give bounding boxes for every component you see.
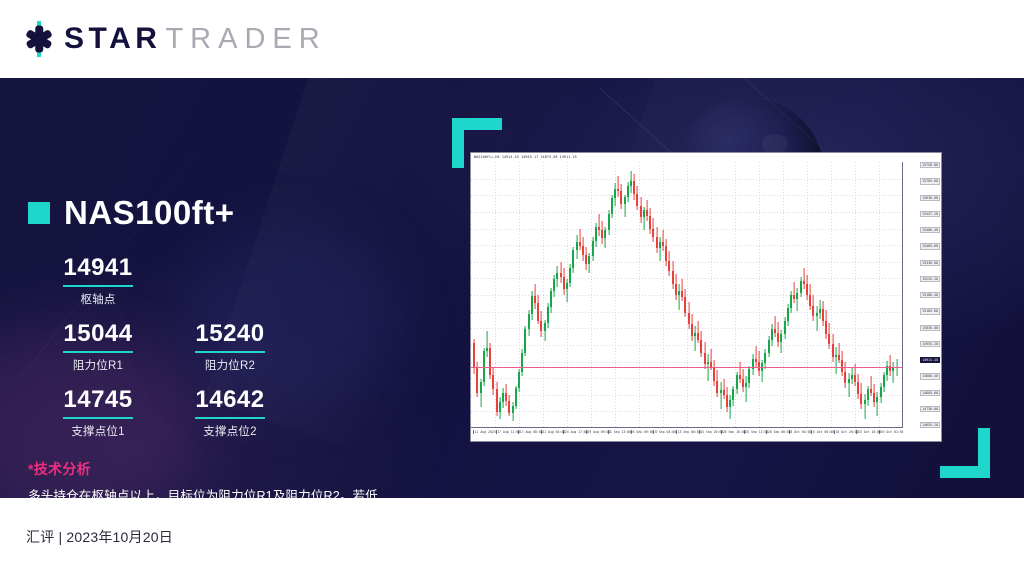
time-tick-label: 21 Aug 04:00 <box>541 430 566 434</box>
candlestick <box>768 162 770 428</box>
price-tick-label: 14805.60 <box>920 390 940 396</box>
candlestick <box>540 162 542 428</box>
candlestick <box>588 162 590 428</box>
chart-plot-area[interactable] <box>471 162 903 428</box>
chart-time-axis[interactable]: 11 Aug 202317 Aug 12:0017 Aug 08:0021 Au… <box>471 427 903 441</box>
time-tick-label: 13 Oct 16:00 <box>856 430 881 434</box>
candlestick <box>784 162 786 428</box>
candlestick <box>876 162 878 428</box>
square-bullet-icon <box>28 202 50 224</box>
level-label: 阻力位R2 <box>178 357 282 373</box>
candlestick <box>809 162 811 428</box>
candlestick <box>723 162 725 428</box>
candlestick <box>713 162 715 428</box>
technical-analysis: *技术分析 多头持仓在枢轴点以上，目标位为阻力位R1及阻力位R2。若低于枢轴点，… <box>28 459 428 498</box>
analysis-body: 多头持仓在枢轴点以上，目标位为阻力位R1及阻力位R2。若低于枢轴点，则可能下跌至… <box>28 486 388 498</box>
candlestick <box>678 162 680 428</box>
candlestick <box>828 162 830 428</box>
candlestick <box>496 162 498 428</box>
candlestick <box>880 162 882 428</box>
candlestick <box>873 162 875 428</box>
chart-header-text: NAS100ft+,H4 14914.45 14955.17 14875.50 … <box>474 155 577 159</box>
candlestick <box>835 162 837 428</box>
levels-list: 14941 枢轴点 15044 阻力位R1 15240 阻力位R2 <box>28 255 428 439</box>
candlestick <box>502 162 504 428</box>
level-label: 枢轴点 <box>46 291 150 307</box>
candlestick <box>585 162 587 428</box>
candlestick <box>572 162 574 428</box>
level-pivot: 14941 枢轴点 <box>46 255 150 307</box>
level-value: 14745 <box>63 387 132 419</box>
candlestick <box>524 162 526 428</box>
price-chart[interactable]: NAS100ft+,H4 14914.45 14955.17 14875.50 … <box>470 152 942 442</box>
candlestick <box>822 162 824 428</box>
level-value: 15044 <box>63 321 132 353</box>
candlestick <box>630 162 632 428</box>
candlestick <box>550 162 552 428</box>
candlestick <box>883 162 885 428</box>
candlestick <box>649 162 651 428</box>
time-tick-label: 10 Oct 20:00 <box>834 430 859 434</box>
price-tick-label: 15405.60 <box>920 243 940 249</box>
time-tick-label: 17 Aug 12:00 <box>496 430 521 434</box>
current-price-line <box>471 367 903 368</box>
level-support-1: 14745 支撑点位1 <box>46 387 150 439</box>
candlestick <box>640 162 642 428</box>
candlestick <box>726 162 728 428</box>
candlestick <box>544 162 546 428</box>
candlestick <box>505 162 507 428</box>
brand-name-light: TRADER <box>165 23 326 56</box>
analysis-heading: *技术分析 <box>28 459 428 479</box>
candlestick <box>646 162 648 428</box>
candlestick <box>857 162 859 428</box>
price-tick-label: 15630.00 <box>920 195 940 201</box>
candlestick <box>476 162 478 428</box>
candlestick <box>739 162 741 428</box>
level-support-2: 14642 支撑点位2 <box>178 387 282 439</box>
candlestick <box>480 162 482 428</box>
level-value: 15240 <box>195 321 264 353</box>
candlestick <box>688 162 690 428</box>
candlestick <box>601 162 603 428</box>
candlestick <box>636 162 638 428</box>
info-panel: NAS100ft+ 14941 枢轴点 15044 阻力位R1 15240 <box>28 196 428 498</box>
candlestick <box>729 162 731 428</box>
level-resistance-1: 15044 阻力位R1 <box>46 321 150 373</box>
candlestick <box>848 162 850 428</box>
time-tick-label: 15 Sep 20:00 <box>699 430 724 434</box>
candlestick <box>534 162 536 428</box>
candlestick <box>617 162 619 428</box>
level-value: 14642 <box>195 387 264 419</box>
candlestick <box>812 162 814 428</box>
candlestick <box>656 162 658 428</box>
candlestick <box>547 162 549 428</box>
time-tick-label: 6 Sep 09:00 <box>631 430 654 434</box>
candlestick <box>659 162 661 428</box>
candlestick <box>838 162 840 428</box>
candlestick <box>531 162 533 428</box>
level-label: 支撑点位2 <box>178 423 282 439</box>
price-tick-label: 14955.20 <box>920 341 940 347</box>
price-tick-label: 15030.00 <box>920 325 940 331</box>
candlestick <box>560 162 562 428</box>
time-tick-label: 13 Sep 00:00 <box>676 430 701 434</box>
candlestick <box>528 162 530 428</box>
page-footer: 汇评 | 2023年10月20日 <box>0 498 1024 576</box>
footer-caption: 汇评 | 2023年10月20日 <box>26 527 173 547</box>
candlestick <box>896 162 898 428</box>
pivot-row: 14941 枢轴点 <box>46 255 428 307</box>
candlestick <box>521 162 523 428</box>
candlestick <box>592 162 594 428</box>
candlestick <box>608 162 610 428</box>
candlestick <box>569 162 571 428</box>
candlestick <box>886 162 888 428</box>
candlestick <box>777 162 779 428</box>
candlestick <box>672 162 674 428</box>
candlestick <box>841 162 843 428</box>
candlestick <box>489 162 491 428</box>
candlestick <box>486 162 488 428</box>
candlestick <box>492 162 494 428</box>
candlestick <box>892 162 894 428</box>
level-resistance-2: 15240 阻力位R2 <box>178 321 282 373</box>
candlestick <box>780 162 782 428</box>
candlestick <box>668 162 670 428</box>
current-price-label: 14911.15 <box>920 357 940 363</box>
level-value: 14941 <box>63 255 132 287</box>
price-tick-label: 15330.00 <box>920 260 940 266</box>
time-tick-label: 24 Aug 17:00 <box>563 430 588 434</box>
candlestick <box>633 162 635 428</box>
candlestick <box>755 162 757 428</box>
candlestick <box>704 162 706 428</box>
candlestick <box>675 162 677 428</box>
candlestick <box>662 162 664 428</box>
candlestick <box>707 162 709 428</box>
level-label: 阻力位R1 <box>46 357 150 373</box>
brand-name-bold: STAR <box>64 22 161 56</box>
price-tick-label: 15180.40 <box>920 292 940 298</box>
candlestick <box>816 162 818 428</box>
slide-root: STAR TRADER NAS100ft+ 14941 <box>0 0 1024 576</box>
time-tick-label: 29 Aug 09:00 <box>586 430 611 434</box>
candlestick <box>736 162 738 428</box>
price-tick-label: 15255.20 <box>920 276 940 282</box>
candlestick <box>800 162 802 428</box>
candlestick <box>553 162 555 428</box>
price-tick-label: 15758.80 <box>920 162 940 168</box>
candlestick <box>860 162 862 428</box>
candlestick <box>582 162 584 428</box>
candlestick <box>652 162 654 428</box>
candlestick <box>716 162 718 428</box>
candlestick <box>518 162 520 428</box>
time-tick-label: 19 Oct 01:00 <box>879 430 903 434</box>
candlestick <box>576 162 578 428</box>
candlestick <box>508 162 510 428</box>
time-tick-label: 1 Sep 13:00 <box>608 430 631 434</box>
candlestick <box>643 162 645 428</box>
candlestick <box>787 162 789 428</box>
candlestick <box>512 162 514 428</box>
candlestick <box>748 162 750 428</box>
chart-price-axis[interactable]: 15758.8015705.6015630.0015557.2015480.40… <box>902 162 941 428</box>
candlestick <box>515 162 517 428</box>
candlestick <box>864 162 866 428</box>
candlestick <box>566 162 568 428</box>
candlestick <box>761 162 763 428</box>
candlestick <box>700 162 702 428</box>
candlestick <box>764 162 766 428</box>
candlestick <box>697 162 699 428</box>
time-tick-label: 8 Sep 04:00 <box>653 430 676 434</box>
candlestick <box>483 162 485 428</box>
candlestick <box>595 162 597 428</box>
candlestick <box>771 162 773 428</box>
candlestick <box>537 162 539 428</box>
candlestick <box>844 162 846 428</box>
candlestick <box>604 162 606 428</box>
time-tick-label: 11 Aug 2023 <box>473 430 496 434</box>
candlestick <box>563 162 565 428</box>
support-row: 14745 支撑点位1 14642 支撑点位2 <box>46 387 428 439</box>
candlestick <box>889 162 891 428</box>
candlestick <box>745 162 747 428</box>
candlestick <box>832 162 834 428</box>
candlestick <box>803 162 805 428</box>
candlestick <box>870 162 872 428</box>
candlestick <box>854 162 856 428</box>
candlestick <box>620 162 622 428</box>
candlestick <box>819 162 821 428</box>
candlestick <box>758 162 760 428</box>
brand-logo: STAR TRADER <box>22 22 327 56</box>
time-tick-label: 17 Aug 08:00 <box>518 430 543 434</box>
candlestick <box>499 162 501 428</box>
page-title: NAS100ft+ <box>64 196 234 229</box>
candlestick <box>732 162 734 428</box>
price-tick-label: 15705.60 <box>920 178 940 184</box>
candlestick <box>665 162 667 428</box>
candlestick <box>684 162 686 428</box>
time-tick-label: 28 Sep 08:00 <box>766 430 791 434</box>
candlestick <box>851 162 853 428</box>
candlestick <box>611 162 613 428</box>
candlestick <box>556 162 558 428</box>
candlestick <box>627 162 629 428</box>
resistance-row: 15044 阻力位R1 15240 阻力位R2 <box>46 321 428 373</box>
time-tick-label: 3 Oct 04:00 <box>789 430 812 434</box>
candlestick <box>624 162 626 428</box>
candlestick <box>681 162 683 428</box>
candlestick <box>473 162 475 428</box>
price-tick-label: 14730.00 <box>920 406 940 412</box>
price-tick-label: 15557.20 <box>920 211 940 217</box>
candlestick <box>710 162 712 428</box>
price-tick-label: 14880.40 <box>920 373 940 379</box>
candlestick <box>806 162 808 428</box>
candlestick <box>742 162 744 428</box>
star-asterisk-icon <box>22 22 56 56</box>
candlestick <box>825 162 827 428</box>
page-header: STAR TRADER <box>0 0 1024 78</box>
price-tick-label: 15480.40 <box>920 227 940 233</box>
candlestick <box>694 162 696 428</box>
price-tick-label: 15105.60 <box>920 308 940 314</box>
candlestick <box>867 162 869 428</box>
candlestick <box>796 162 798 428</box>
candlestick <box>793 162 795 428</box>
candlestick <box>790 162 792 428</box>
time-tick-label: 20 Sep 16:00 <box>721 430 746 434</box>
candlestick <box>579 162 581 428</box>
symbol-heading: NAS100ft+ <box>28 196 428 229</box>
candlestick <box>720 162 722 428</box>
candlestick <box>774 162 776 428</box>
candlestick <box>614 162 616 428</box>
candlestick <box>752 162 754 428</box>
candlestick <box>691 162 693 428</box>
time-tick-label: 25 Sep 12:00 <box>744 430 769 434</box>
corner-bracket-icon <box>940 428 990 478</box>
price-tick-label: 14655.20 <box>920 422 940 428</box>
time-tick-label: 6 Oct 00:00 <box>811 430 834 434</box>
candlestick <box>598 162 600 428</box>
level-label: 支撑点位1 <box>46 423 150 439</box>
